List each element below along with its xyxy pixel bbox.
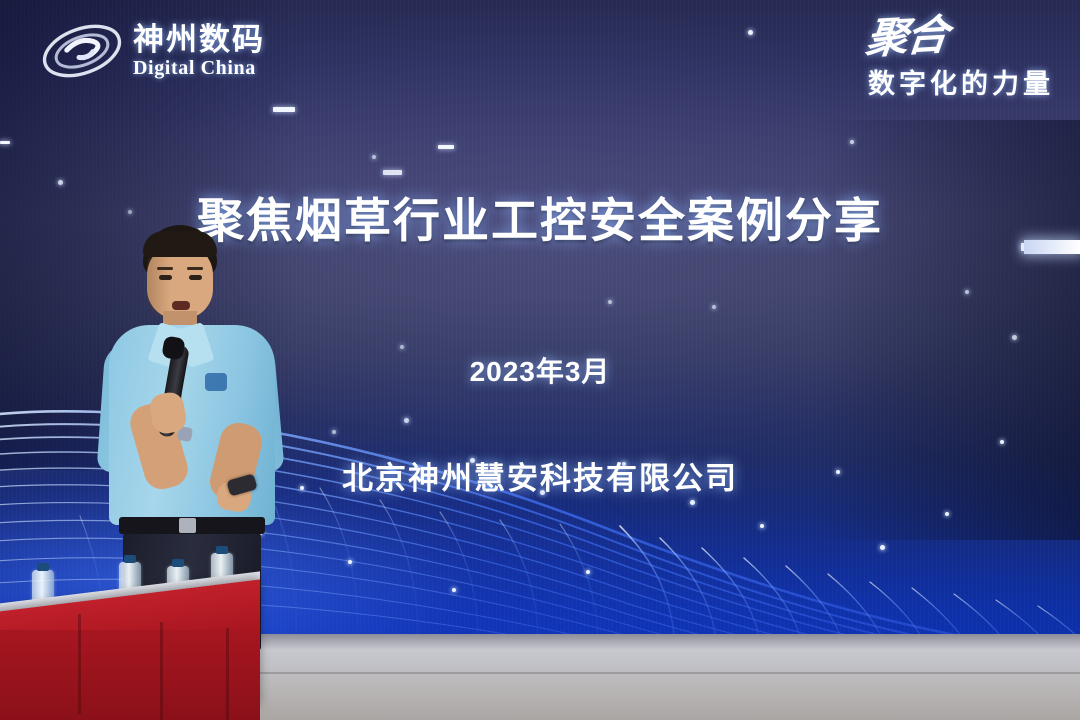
particle-dot [452,588,456,592]
slogan-calligraphy: 聚合 [864,18,949,60]
particle-dot [608,300,612,304]
bottle-cap [216,546,228,554]
bottle-cap [172,559,184,567]
conference-photo-scene: 神州数码 Digital China 聚合 数字化的力量 聚焦烟草行业工控安全案… [0,0,1080,720]
particle-dot [945,512,949,516]
particle-dot [332,430,336,434]
digital-china-swirl-icon [40,18,124,84]
particle-dot [348,560,352,564]
particle-dot [404,418,409,423]
table-cloth-fold [78,614,81,714]
particle-dot [372,155,376,159]
brand-text: 神州数码 Digital China [133,24,265,78]
slogan-subtitle: 数字化的力量 [866,62,1054,101]
brand-name-en: Digital China [133,58,265,78]
particle-dot [1000,440,1004,444]
event-slogan: 聚合 数字化的力量 [866,20,1054,101]
particle-dot [712,305,716,309]
table-cloth-skirt [0,630,260,720]
particle-dot [748,30,753,35]
speaker-chest-logo [205,373,227,391]
particle-dot [965,290,969,294]
particle-dash [273,107,295,112]
speaker-eye-left [159,275,172,280]
particle-dot [400,345,404,349]
speaker-hair-front [143,231,217,257]
bottle-cap [37,563,49,571]
brand-logo: 神州数码 Digital China [40,18,265,84]
particle-dot [760,524,764,528]
speaker-mouth [172,301,190,310]
particle-dot [880,545,885,550]
table-cloth-fold [160,622,163,720]
particle-dash [383,170,402,175]
particle-dot [586,570,590,574]
particle-dot [1012,335,1017,340]
particle-dot [850,140,854,144]
table-cloth-fold [226,628,229,720]
particle-dot [690,500,695,505]
brand-name-cn: 神州数码 [133,24,265,55]
particle-dash [0,141,10,144]
speaker-eyebrow-right [187,267,203,270]
speaker-belt-buckle [179,518,196,533]
speaker-eyebrow-left [157,267,173,270]
speaker-eye-right [189,275,202,280]
bottle-cap [124,555,136,563]
particle-dash [438,145,454,149]
